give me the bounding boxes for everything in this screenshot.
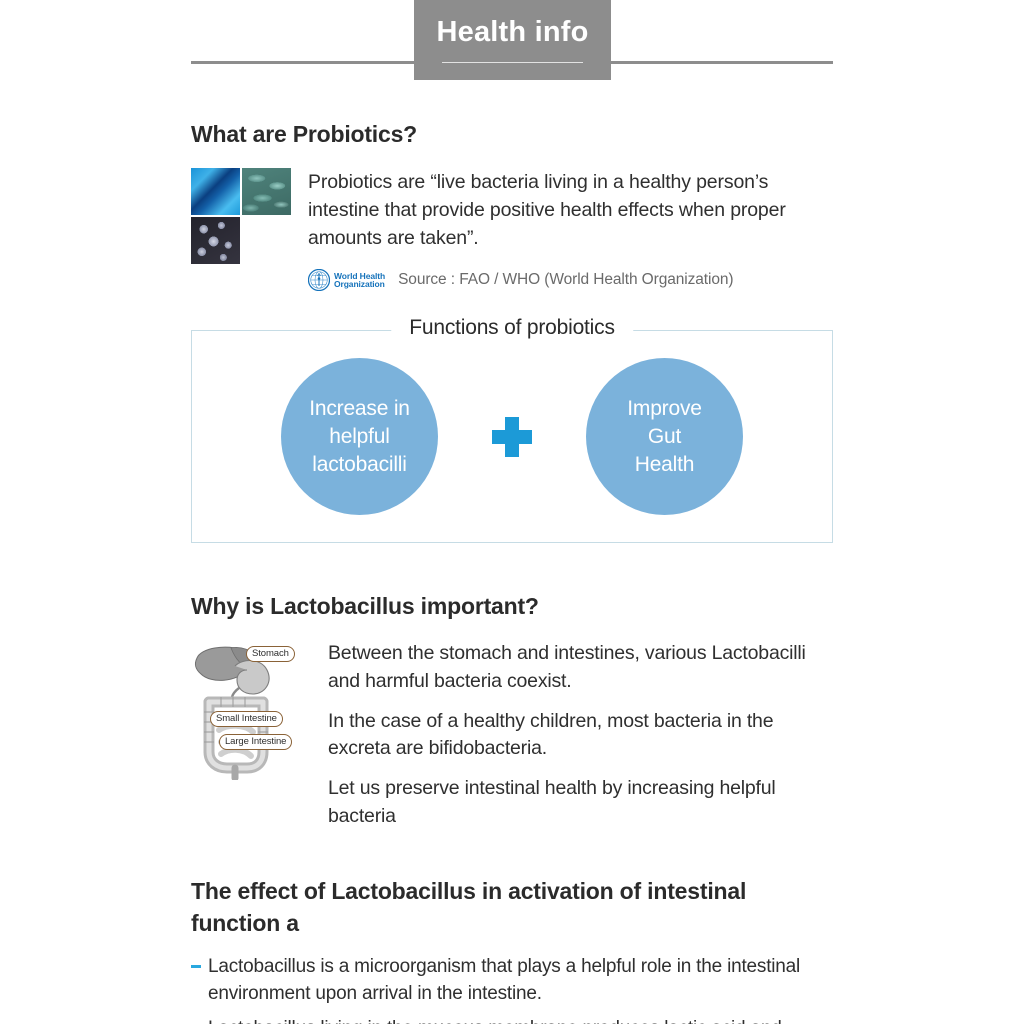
probiotics-section: What are Probiotics? Probiotics are “liv… [191, 119, 833, 291]
organ-label-stomach: Stomach [246, 646, 295, 662]
functions-section: Functions of probiotics Increase in help… [191, 330, 833, 543]
source-row: World Health Organization Source : FAO /… [308, 269, 833, 291]
page-header: Health info [0, 0, 1024, 82]
plus-icon [492, 417, 532, 457]
digestive-system-illustration: Stomach Small Intestine Large Intestine [191, 640, 311, 780]
dash-bullet-icon [191, 965, 201, 968]
function-circle-left-line3: lactobacilli [312, 451, 406, 479]
header-tab-underline [442, 62, 583, 63]
rod-bacteria-microscopy-thumbnail [242, 168, 291, 215]
source-attribution: Source : FAO / WHO (World Health Organiz… [398, 271, 733, 289]
effect-section: The effect of Lactobacillus in activatio… [191, 876, 833, 1024]
health-info-page: Health info What are Probiotics? Probiot… [0, 0, 1024, 1024]
header-tab-title: Health info [436, 16, 588, 49]
microscopy-thumbnail-grid [191, 168, 292, 264]
functions-box-title: Functions of probiotics [391, 316, 633, 340]
probiotics-text-block: Probiotics are “live bacteria living in … [308, 168, 833, 291]
organ-label-small-intestine: Small Intestine [210, 711, 283, 727]
function-circle-increase-lactobacilli: Increase in helpful lactobacilli [281, 358, 438, 515]
effect-list: Lactobacillus is a microorganism that pl… [191, 954, 833, 1024]
crystal-microscopy-thumbnail [191, 168, 240, 215]
function-circle-right-line3: Health [635, 451, 695, 479]
probiotics-heading: What are Probiotics? [191, 119, 833, 150]
header-tab: Health info [414, 0, 611, 80]
lactobacillus-body: Stomach Small Intestine Large Intestine … [191, 640, 833, 830]
who-wordmark: World Health Organization [334, 272, 385, 289]
function-circle-left-line1: Increase in [309, 395, 410, 423]
lactobacillus-text-block: Between the stomach and intestines, vari… [328, 640, 833, 830]
lactobacillus-paragraph: Between the stomach and intestines, vari… [328, 640, 833, 695]
lactobacillus-paragraph: In the case of a healthy children, most … [328, 708, 833, 763]
who-wordmark-line2: Organization [334, 280, 385, 289]
list-item-text: Lactobacillus is a microorganism that pl… [208, 956, 800, 1004]
function-circle-left-line2: helpful [329, 423, 389, 451]
organ-label-large-intestine: Large Intestine [219, 734, 292, 750]
probiotics-body: Probiotics are “live bacteria living in … [191, 168, 833, 291]
effect-heading: The effect of Lactobacillus in activatio… [191, 876, 833, 938]
function-circle-right-line1: Improve [627, 395, 701, 423]
page-content: What are Probiotics? Probiotics are “liv… [0, 119, 1024, 1024]
lactobacillus-heading: Why is Lactobacillus important? [191, 591, 833, 622]
who-emblem-icon [308, 269, 330, 291]
functions-box: Functions of probiotics Increase in help… [191, 330, 833, 543]
probiotics-definition-quote: Probiotics are “live bacteria living in … [308, 168, 833, 252]
lactobacillus-importance-section: Why is Lactobacillus important? [191, 591, 833, 830]
lactobacillus-paragraph: Let us preserve intestinal health by inc… [328, 775, 833, 830]
cocci-bacteria-microscopy-thumbnail [191, 217, 240, 264]
who-logo: World Health Organization [308, 269, 385, 291]
list-item-text: Lactobacillus living in the mucous membr… [208, 1018, 782, 1024]
list-item: Lactobacillus living in the mucous membr… [191, 1016, 833, 1024]
function-circle-improve-gut-health: Improve Gut Health [586, 358, 743, 515]
list-item: Lactobacillus is a microorganism that pl… [191, 954, 833, 1008]
function-circle-right-line2: Gut [648, 423, 681, 451]
